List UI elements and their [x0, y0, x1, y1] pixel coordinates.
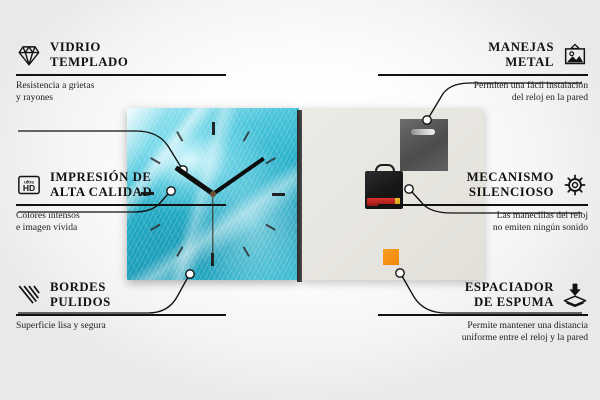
clock-tick	[141, 193, 213, 195]
feature-desc-line1: Las manecillas del reloj	[378, 210, 588, 223]
feature-bordes-pulidos: BORDES PULIDOS Superficie lisa y segura	[16, 280, 226, 332]
feature-divider	[378, 204, 588, 205]
feature-title: MANEJAS METAL	[488, 40, 554, 70]
feature-head: ultra HD IMPRESIÓN DE ALTA CALIDAD	[16, 170, 226, 200]
feature-description: Permiten una fácil instalación del reloj…	[378, 80, 588, 105]
feature-title-line2: ALTA CALIDAD	[50, 185, 152, 200]
diamond-icon	[16, 42, 42, 68]
feature-title-line1: ESPACIADOR	[465, 280, 554, 295]
feature-title-line2: PULIDOS	[50, 295, 111, 310]
feature-title: MECANISMO SILENCIOSO	[467, 170, 554, 200]
feature-title-line1: VIDRIO	[50, 40, 128, 55]
feature-divider	[378, 314, 588, 315]
feature-description: Las manecillas del reloj no emiten ningú…	[378, 210, 588, 235]
feature-desc-line1: Resistencia a grietas	[16, 80, 226, 93]
clock-front-face	[127, 108, 299, 280]
polished-edges-icon	[16, 282, 42, 308]
clock-tick	[212, 131, 250, 194]
feature-desc-line2: no emiten ningún sonido	[378, 222, 588, 235]
foam-spacer	[383, 249, 399, 265]
feature-title-line2: SILENCIOSO	[467, 185, 554, 200]
feature-desc-line2: y rayones	[16, 92, 226, 105]
feature-title-line1: MANEJAS	[488, 40, 554, 55]
svg-text:HD: HD	[23, 183, 35, 193]
feature-head: VIDRIO TEMPLADO	[16, 40, 226, 70]
feature-divider	[16, 74, 226, 75]
feature-mecanismo-silencioso: MECANISMO SILENCIOSO Las manecillas del …	[378, 170, 588, 235]
clock-tick	[212, 122, 214, 194]
feature-description: Superficie lisa y segura	[16, 320, 226, 333]
feature-title-line1: MECANISMO	[467, 170, 554, 185]
feature-head: MECANISMO SILENCIOSO	[378, 170, 588, 200]
feature-vidrio-templado: VIDRIO TEMPLADO Resistencia a grietas y …	[16, 40, 226, 105]
feature-description: Resistencia a grietas y rayones	[16, 80, 226, 105]
feature-title: IMPRESIÓN DE ALTA CALIDAD	[50, 170, 152, 200]
foam-spacer-arrow-icon	[562, 282, 588, 308]
metal-hanger-plate	[400, 119, 448, 171]
feature-title: BORDES PULIDOS	[50, 280, 111, 310]
feature-head: BORDES PULIDOS	[16, 280, 226, 310]
picture-frame-hanger-icon	[562, 42, 588, 68]
ultra-hd-badge-icon: ultra HD	[16, 172, 42, 198]
feature-title-line2: METAL	[488, 55, 554, 70]
feature-head: MANEJAS METAL	[378, 40, 588, 70]
feature-title: VIDRIO TEMPLADO	[50, 40, 128, 70]
feature-title-line2: TEMPLADO	[50, 55, 128, 70]
feature-head: ESPACIADOR DE ESPUMA	[378, 280, 588, 310]
gear-icon	[562, 172, 588, 198]
feature-title-line1: BORDES	[50, 280, 111, 295]
clock-tick	[213, 193, 285, 195]
clock-center-cap	[210, 191, 216, 197]
feature-espaciador-espuma: ESPACIADOR DE ESPUMA Permite mantener un…	[378, 280, 588, 345]
feature-desc-line1: Colores intensos	[16, 210, 226, 223]
feature-title-line1: IMPRESIÓN DE	[50, 170, 152, 185]
feature-title-line2: DE ESPUMA	[465, 295, 554, 310]
feature-description: Permite mantener una distancia uniforme …	[378, 320, 588, 345]
feature-desc-line1: Superficie lisa y segura	[16, 320, 226, 333]
feature-desc-line2: uniforme entre el reloj y la pared	[378, 332, 588, 345]
infographic-canvas: VIDRIO TEMPLADO Resistencia a grietas y …	[0, 0, 600, 400]
feature-title: ESPACIADOR DE ESPUMA	[465, 280, 554, 310]
feature-desc-line2: del reloj en la pared	[378, 92, 588, 105]
feature-desc-line1: Permite mantener una distancia	[378, 320, 588, 333]
feature-manejas-metal: MANEJAS METAL Permiten una fácil instala…	[378, 40, 588, 105]
hanger-slot	[411, 129, 435, 135]
feature-desc-line1: Permiten una fácil instalación	[378, 80, 588, 93]
feature-divider	[16, 314, 226, 315]
feature-divider	[378, 74, 588, 75]
